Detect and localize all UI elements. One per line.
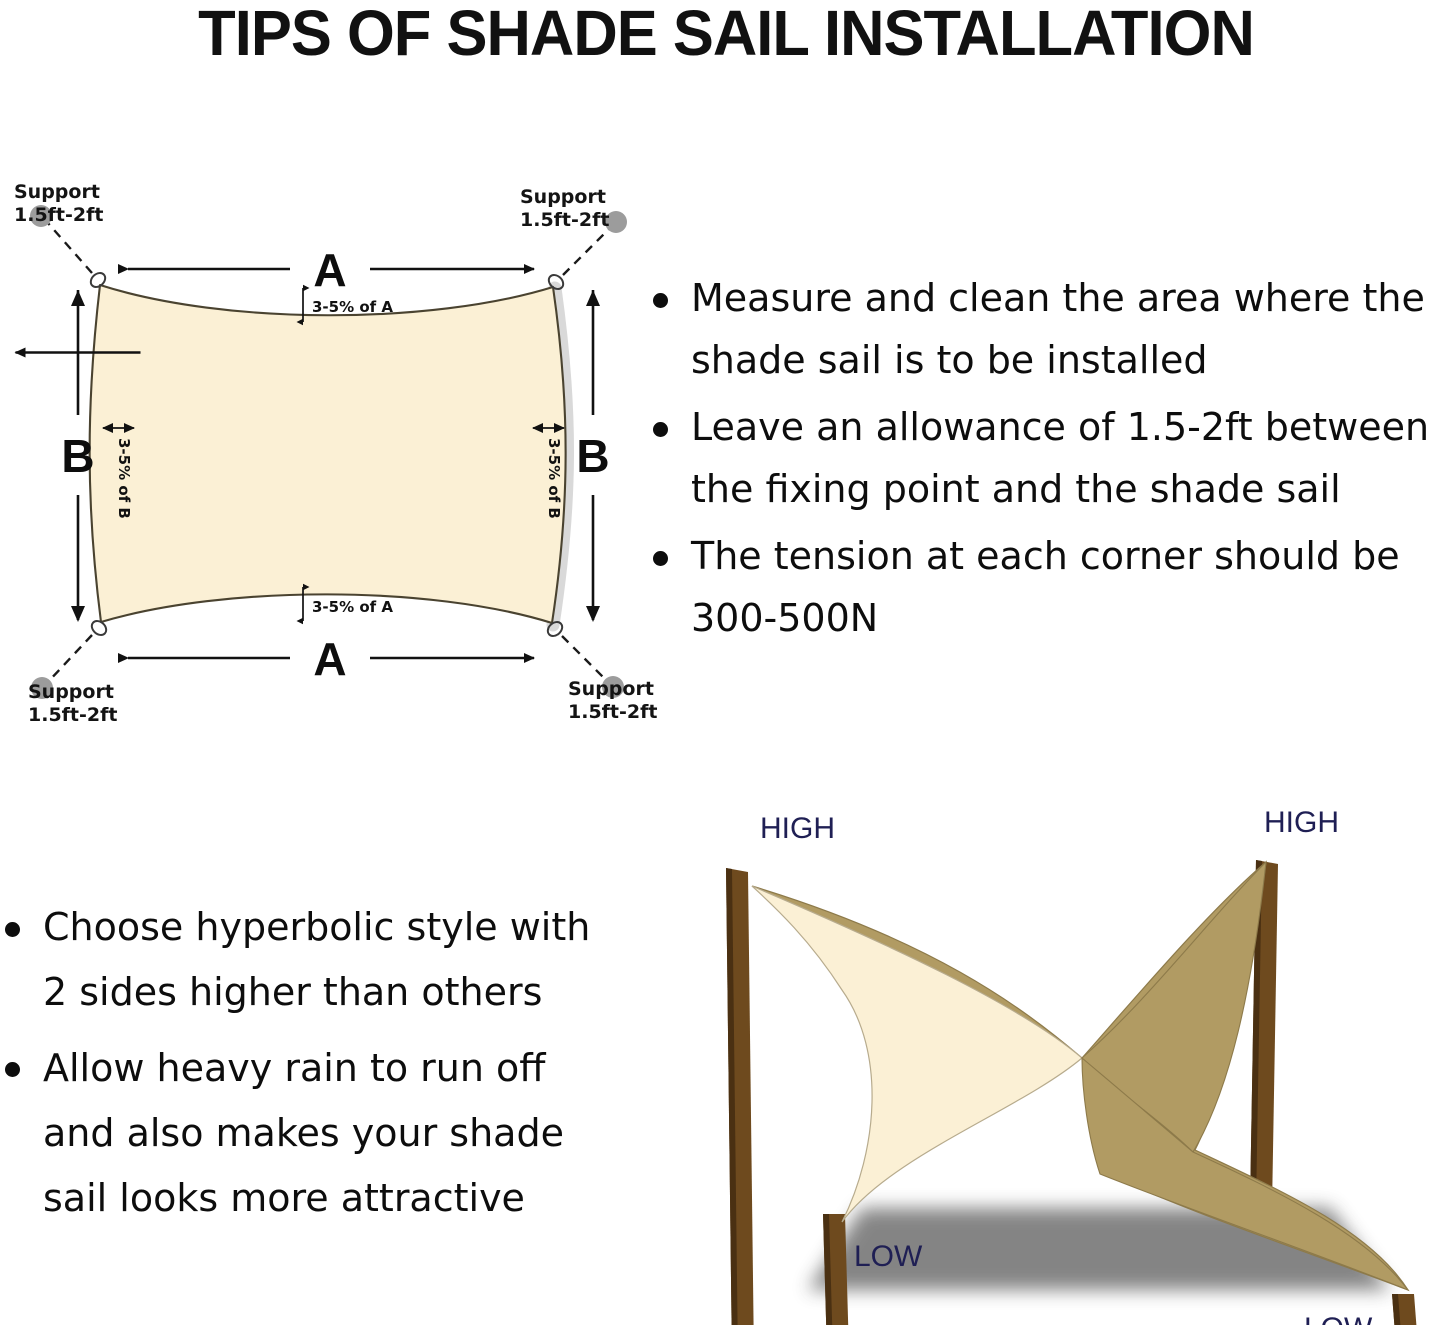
tip-text: The tension at each corner should be 300… <box>653 526 1452 649</box>
support-label-bottom-right-line2: 1.5ft-2ft <box>568 701 657 723</box>
dimension-label-a-bottom: A <box>313 633 346 685</box>
support-label-bottom-left-line1: Support <box>28 681 114 703</box>
tip-text: Allow heavy rain to run off and also mak… <box>5 1036 625 1232</box>
curve-note-right-text: 3-5% of B <box>545 438 563 519</box>
tip-text: Leave an allowance of 1.5-2ft between th… <box>653 397 1452 520</box>
curve-note-top-text: 3-5% of A <box>312 298 393 316</box>
support-label-bottom-left-line2: 1.5ft-2ft <box>28 704 117 726</box>
tip-text: Choose hyperbolic style with 2 sides hig… <box>5 895 625 1026</box>
list-item: Leave an allowance of 1.5-2ft between th… <box>653 397 1452 520</box>
sail-fabric <box>90 285 566 623</box>
label-high-left: HIGH <box>760 812 835 845</box>
list-item: Allow heavy rain to run off and also mak… <box>5 1036 625 1232</box>
support-label-top-right-line2: 1.5ft-2ft <box>520 209 609 231</box>
support-label-bottom-right-line1: Support <box>568 678 654 700</box>
installation-tips-list: Measure and clean the area where the sha… <box>653 268 1452 655</box>
label-low-left: LOW <box>854 1240 923 1273</box>
dimension-a-bottom: A <box>128 633 534 685</box>
sail-plan-diagram: Support 1.5ft-2ft Support 1.5ft-2ft Supp… <box>0 160 660 740</box>
support-label-top-left-line2: 1.5ft-2ft <box>14 204 103 226</box>
dimension-label-b-left: B <box>61 430 94 482</box>
label-low-right: LOW <box>1304 1312 1373 1325</box>
dimension-b-right: B <box>576 290 609 622</box>
dimension-a-top: A <box>128 244 534 296</box>
label-high-right: HIGH <box>1264 806 1339 839</box>
list-item: The tension at each corner should be 300… <box>653 526 1452 649</box>
list-item: Measure and clean the area where the sha… <box>653 268 1452 391</box>
bullet-dot-icon <box>653 293 668 308</box>
support-label-top-left-line1: Support <box>14 181 100 203</box>
tip-text: Measure and clean the area where the sha… <box>653 268 1452 391</box>
bullet-dot-icon <box>5 922 20 937</box>
curve-note-bottom-text: 3-5% of A <box>312 598 393 616</box>
curve-note-left-text: 3-5% of B <box>115 438 133 519</box>
dimension-label-a-top: A <box>313 244 346 296</box>
sail-panel-front <box>752 886 1082 1222</box>
dimension-label-b-right: B <box>576 430 609 482</box>
hyperbolic-style-tips-list: Choose hyperbolic style with 2 sides hig… <box>5 895 625 1242</box>
page-title: TIPS OF SHADE SAIL INSTALLATION <box>29 0 1423 70</box>
support-label-top-right-line1: Support <box>520 186 606 208</box>
hyperbolic-diagram: HIGH HIGH LOW LOW <box>690 790 1452 1325</box>
list-item: Choose hyperbolic style with 2 sides hig… <box>5 895 625 1026</box>
